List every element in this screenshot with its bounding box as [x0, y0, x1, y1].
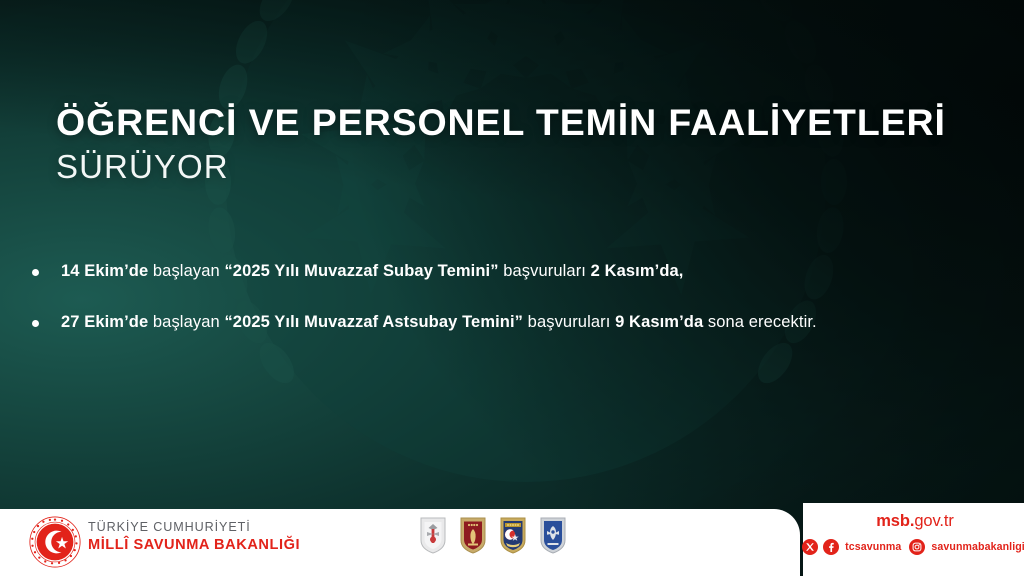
bullet-1-applications: başvuruları	[499, 262, 591, 280]
bullet-dot-icon	[32, 269, 39, 276]
slide-root: ÖĞRENCİ VE PERSONEL TEMİN FAALİYETLERİ S…	[0, 0, 1024, 576]
bullet-2-program: “2025 Yılı Muvazzaf Astsubay Temini”	[224, 313, 523, 331]
headline-line-2: SÜRÜYOR	[56, 146, 1006, 187]
x-twitter-icon[interactable]	[802, 539, 818, 555]
deniz-kuvvetleri-badge-icon	[500, 517, 526, 554]
bullet-list: 14 Ekim’de başlayan “2025 Yılı Muvazzaf …	[28, 258, 978, 359]
bullet-1-date-start: 14 Ekim’de	[61, 262, 148, 280]
website-url[interactable]: msb.gov.tr	[812, 512, 1018, 532]
bullet-1-date-end: 2 Kasım’da,	[591, 262, 684, 280]
social-links-row: tcsavunma savunmabakanligi	[812, 539, 1018, 555]
list-item: 14 Ekim’de başlayan “2025 Yılı Muvazzaf …	[28, 258, 978, 285]
facebook-icon[interactable]	[823, 539, 839, 555]
ministry-name-block: TÜRKİYE CUMHURİYETİ MİLLÎ SAVUNMA BAKANL…	[88, 519, 300, 555]
facebook-handle[interactable]: tcsavunma	[845, 541, 901, 553]
instagram-handle[interactable]: savunmabakanligi	[931, 541, 1024, 553]
headline-block: ÖĞRENCİ VE PERSONEL TEMİN FAALİYETLERİ S…	[56, 100, 1006, 188]
ministry-line-1: TÜRKİYE CUMHURİYETİ	[88, 519, 300, 536]
instagram-icon[interactable]	[909, 539, 925, 555]
ministry-emblem-icon	[28, 515, 82, 569]
kara-kuvvetleri-badge-icon	[460, 517, 486, 554]
bullet-2-date-end: 9 Kasım’da	[615, 313, 703, 331]
website-url-light: gov.tr	[914, 512, 953, 530]
bullet-1-connector: başlayan	[148, 262, 224, 280]
web-contact-block: msb.gov.tr tcsavunma savun	[812, 512, 1018, 555]
list-item: 27 Ekim’de başlayan “2025 Yılı Muvazzaf …	[28, 309, 978, 336]
bullet-text-1: 14 Ekim’de başlayan “2025 Yılı Muvazzaf …	[61, 258, 978, 285]
ministry-line-2: MİLLÎ SAVUNMA BAKANLIĞI	[88, 536, 300, 555]
website-url-strong: msb.	[876, 512, 914, 530]
bullet-2-date-start: 27 Ekim’de	[61, 313, 148, 331]
bullet-2-connector: başlayan	[148, 313, 224, 331]
bullet-dot-icon	[32, 320, 39, 327]
bullet-text-2: 27 Ekim’de başlayan “2025 Yılı Muvazzaf …	[61, 309, 978, 336]
bullet-1-program: “2025 Yılı Muvazzaf Subay Temini”	[224, 262, 498, 280]
headline-line-1: ÖĞRENCİ VE PERSONEL TEMİN FAALİYETLERİ	[56, 100, 1006, 144]
genelkurmay-baskanligi-badge-icon	[420, 517, 446, 554]
bullet-2-tail: sona erecektir.	[703, 313, 817, 331]
branch-badges-group	[420, 517, 566, 554]
bullet-2-applications: başvuruları	[523, 313, 615, 331]
hava-kuvvetleri-badge-icon	[540, 517, 566, 554]
